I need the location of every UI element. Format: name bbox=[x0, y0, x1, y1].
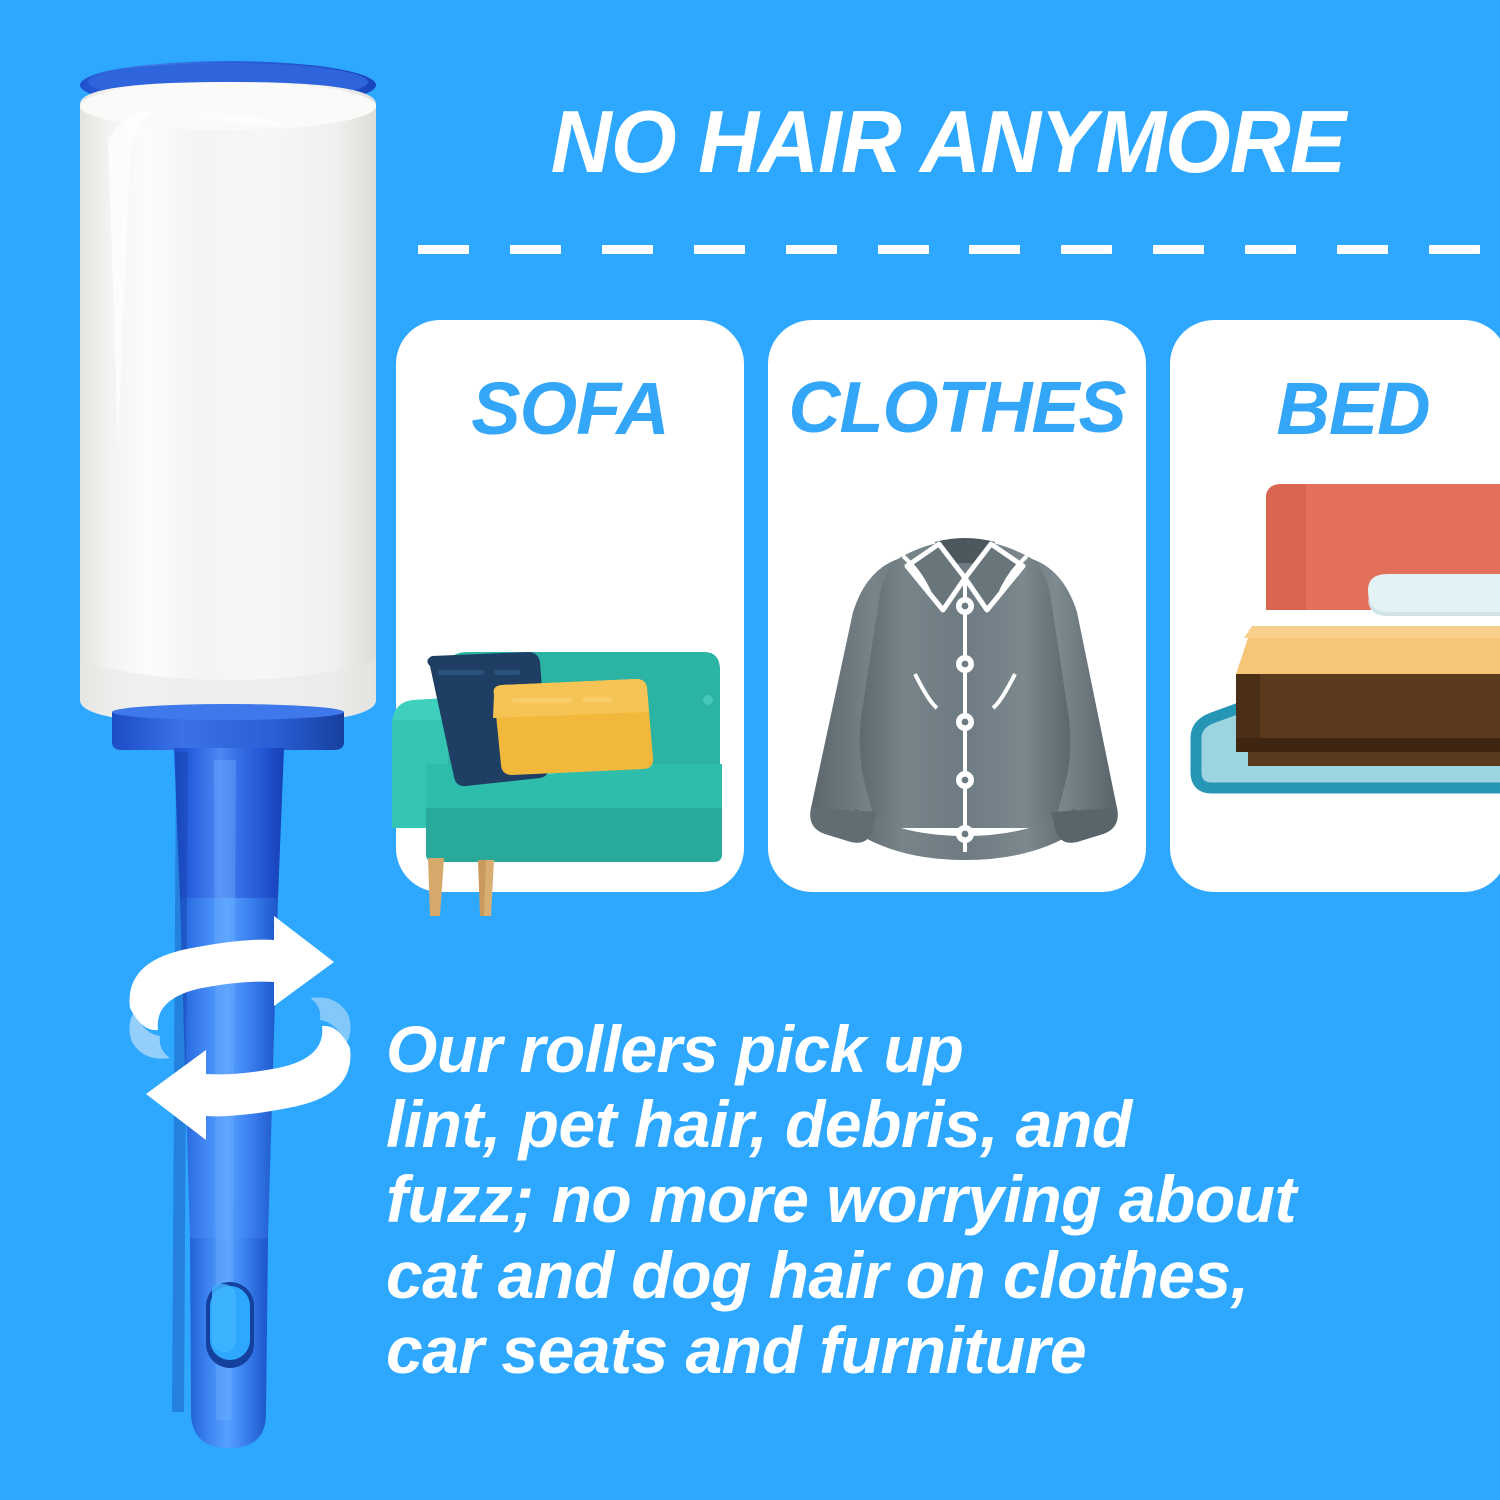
body-line-2: lint, pet hair, debris, and bbox=[386, 1087, 1476, 1162]
body-paragraph: Our rollers pick up lint, pet hair, debr… bbox=[386, 1012, 1476, 1388]
body-line-3: fuzz; no more worrying about bbox=[386, 1162, 1476, 1237]
card-clothes-label: CLOTHES bbox=[768, 372, 1146, 444]
dashed-divider bbox=[418, 244, 1480, 254]
body-line-4: cat and dog hair on clothes, bbox=[386, 1238, 1476, 1313]
page-title: NO HAIR ANYMORE bbox=[439, 98, 1457, 186]
card-bed[interactable]: BED bbox=[1170, 320, 1500, 892]
card-sofa-label: SOFA bbox=[396, 372, 744, 446]
promo-image: NO HAIR ANYMORE SOFA bbox=[0, 0, 1500, 1500]
card-bed-label: BED bbox=[1198, 372, 1500, 446]
hang-hole bbox=[206, 1282, 254, 1368]
card-sofa[interactable]: SOFA bbox=[396, 320, 744, 892]
feature-cards: SOFA bbox=[396, 320, 1500, 892]
lint-roller bbox=[0, 0, 400, 1500]
card-clothes[interactable]: CLOTHES bbox=[768, 320, 1146, 892]
body-line-1: Our rollers pick up bbox=[386, 1012, 1476, 1087]
rotation-arrows-icon bbox=[110, 880, 370, 1180]
body-line-5: car seats and furniture bbox=[386, 1313, 1476, 1388]
